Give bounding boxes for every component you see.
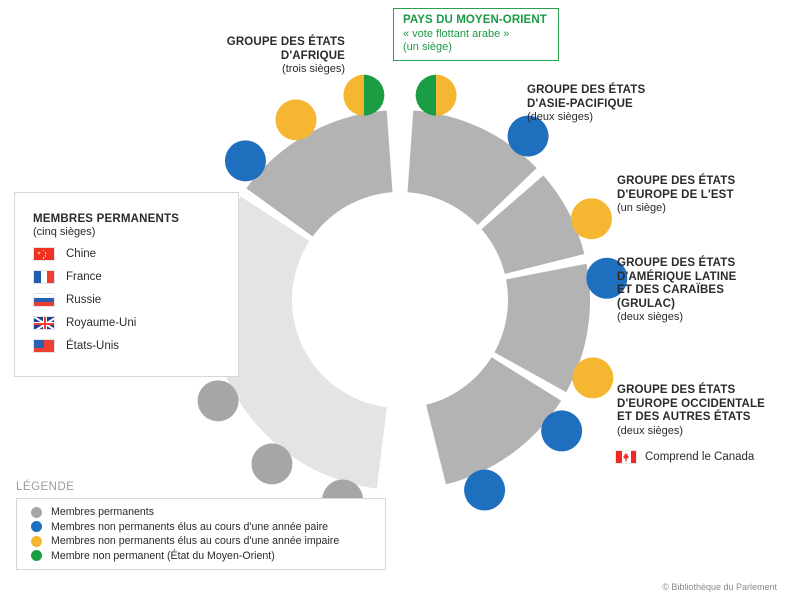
seat-dot	[571, 198, 612, 239]
canada-note-label: Comprend le Canada	[645, 451, 754, 463]
seat-dot	[541, 410, 582, 451]
legend-item: Membres permanents	[31, 506, 385, 518]
legend-item-label: Membres non permanents élus au cours d'u…	[51, 521, 328, 533]
middle-east-callout: PAYS DU MOYEN-ORIENT « vote flottant ara…	[393, 8, 559, 61]
asia-seats: (deux sièges)	[527, 111, 707, 124]
permanent-member-row: Royaume-Uni	[33, 316, 238, 330]
flag-france-icon	[33, 270, 55, 284]
legend-item-label: Membres non permanents élus au cours d'u…	[51, 535, 339, 547]
grulac-seats: (deux sièges)	[617, 311, 791, 324]
legend-item: Membre non permanent (État du Moyen-Orie…	[31, 550, 385, 562]
legend-item: Membres non permanents élus au cours d'u…	[31, 535, 385, 547]
legend-item-label: Membre non permanent (État du Moyen-Orie…	[51, 550, 275, 562]
ee-title-1: GROUPE DES ÉTATS	[617, 175, 791, 189]
label-group-africa: GROUPE DES ÉTATS D'AFRIQUE (trois sièges…	[170, 36, 345, 76]
permanent-member-label: Chine	[66, 248, 96, 260]
permanent-member-label: Russie	[66, 294, 101, 306]
label-group-weog: GROUPE DES ÉTATS D'EUROPE OCCIDENTALE ET…	[617, 384, 791, 438]
middle-east-seats: (un siège)	[403, 41, 551, 54]
ee-seats: (un siège)	[617, 202, 791, 215]
seat-dot	[572, 357, 613, 398]
permanent-member-row: France	[33, 270, 238, 284]
grulac-title-3: ET DES CARAÏBES	[617, 284, 791, 298]
seat-dot	[276, 99, 317, 140]
seat-dot	[198, 380, 239, 421]
middle-east-subtitle: « vote flottant arabe »	[403, 28, 551, 41]
asia-title-2: D'ASIE-PACIFIQUE	[527, 98, 707, 112]
legend-dot-even-year	[31, 521, 42, 532]
permanent-member-row: Chine	[33, 247, 238, 261]
ee-title-2: D'EUROPE DE L'EST	[617, 189, 791, 203]
flag-united-kingdom-icon	[33, 316, 55, 330]
legend-dot-odd-year	[31, 536, 42, 547]
seat-dot-split	[343, 75, 384, 116]
weog-seats: (deux sièges)	[617, 425, 791, 438]
label-group-eastern-europe: GROUPE DES ÉTATS D'EUROPE DE L'EST (un s…	[617, 175, 791, 215]
middle-east-title: PAYS DU MOYEN-ORIENT	[403, 14, 551, 28]
permanent-members-title: MEMBRES PERMANENTS	[33, 213, 238, 225]
permanent-member-row: Russie	[33, 293, 238, 307]
weog-title-1: GROUPE DES ÉTATS	[617, 384, 791, 398]
flag-russia-icon	[33, 293, 55, 307]
weog-title-2: D'EUROPE OCCIDENTALE	[617, 398, 791, 412]
copyright-credit: © Bibliothèque du Parlement	[662, 582, 777, 592]
flag-canada-icon	[615, 450, 637, 464]
seat-dot-split	[416, 75, 457, 116]
africa-title-2: D'AFRIQUE	[170, 50, 345, 64]
label-group-grulac: GROUPE DES ÉTATS D'AMÉRIQUE LATINE ET DE…	[617, 257, 791, 324]
donut-segments	[210, 110, 590, 488]
canada-note: Comprend le Canada	[615, 450, 754, 464]
grulac-title-4: (GRULAC)	[617, 298, 791, 312]
seat-dot	[225, 140, 266, 181]
seat-dot	[464, 470, 505, 511]
permanent-member-row: États-Unis	[33, 339, 238, 353]
africa-title-1: GROUPE DES ÉTATS	[170, 36, 345, 50]
permanent-members-seats: (cinq sièges)	[33, 226, 238, 238]
legend-title: LÉGENDE	[16, 481, 74, 493]
permanent-member-label: Royaume-Uni	[66, 317, 136, 329]
flag-united-states-icon	[33, 339, 55, 353]
grulac-title-1: GROUPE DES ÉTATS	[617, 257, 791, 271]
flag-china-icon	[33, 247, 55, 261]
legend-panel: Membres permanents Membres non permanent…	[16, 498, 386, 570]
seat-dot	[251, 443, 292, 484]
permanent-members-panel: MEMBRES PERMANENTS (cinq sièges) Chine F…	[14, 192, 239, 377]
weog-title-3: ET DES AUTRES ÉTATS	[617, 411, 791, 425]
africa-seats: (trois sièges)	[170, 63, 345, 76]
permanent-member-label: France	[66, 271, 102, 283]
legend-dot-middle-east	[31, 550, 42, 561]
legend-item: Membres non permanents élus au cours d'u…	[31, 521, 385, 533]
asia-title-1: GROUPE DES ÉTATS	[527, 84, 707, 98]
grulac-title-2: D'AMÉRIQUE LATINE	[617, 271, 791, 285]
infographic-canvas: PAYS DU MOYEN-ORIENT « vote flottant ara…	[0, 0, 791, 600]
legend-dot-permanent	[31, 507, 42, 518]
label-group-asia-pacific: GROUPE DES ÉTATS D'ASIE-PACIFIQUE (deux …	[527, 84, 707, 124]
permanent-member-label: États-Unis	[66, 340, 119, 352]
legend-item-label: Membres permanents	[51, 506, 154, 518]
